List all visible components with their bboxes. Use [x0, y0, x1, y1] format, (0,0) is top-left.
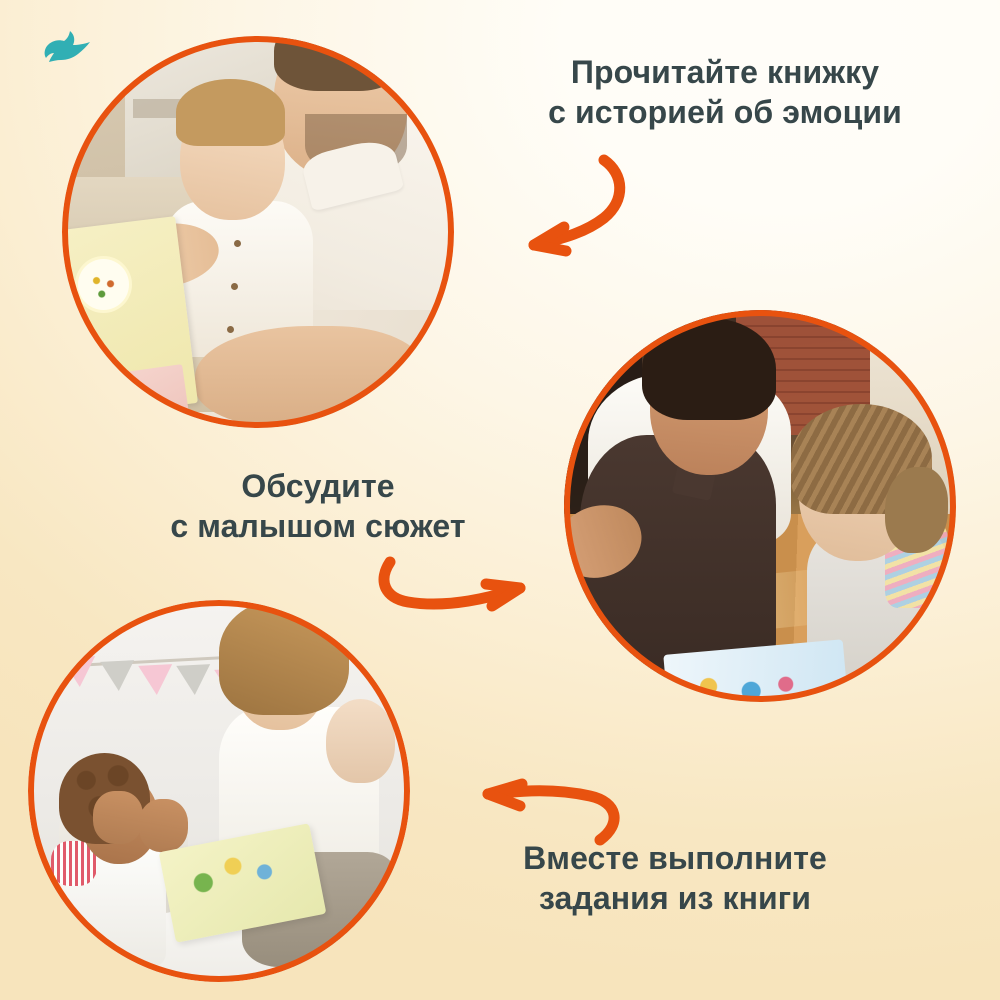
infographic-canvas: Прочитайте книжку с историей об эмоции О…	[0, 0, 1000, 1000]
photo-circle-step-3	[28, 600, 410, 982]
arrow-step1-to-step2	[492, 148, 642, 268]
caption-step-3: Вместе выполните задания из книги	[460, 838, 890, 919]
photo-step-2	[564, 310, 956, 702]
photo-step-3	[28, 600, 410, 982]
caption-step-2: Обсудите с малышом сюжет	[118, 466, 518, 547]
arrow-step2-to-step3	[372, 552, 542, 642]
caption-step-1: Прочитайте книжку с историей об эмоции	[500, 52, 950, 133]
photo-step-1	[62, 36, 454, 428]
photo-circle-step-2	[564, 310, 956, 702]
photo-circle-step-1	[62, 36, 454, 428]
